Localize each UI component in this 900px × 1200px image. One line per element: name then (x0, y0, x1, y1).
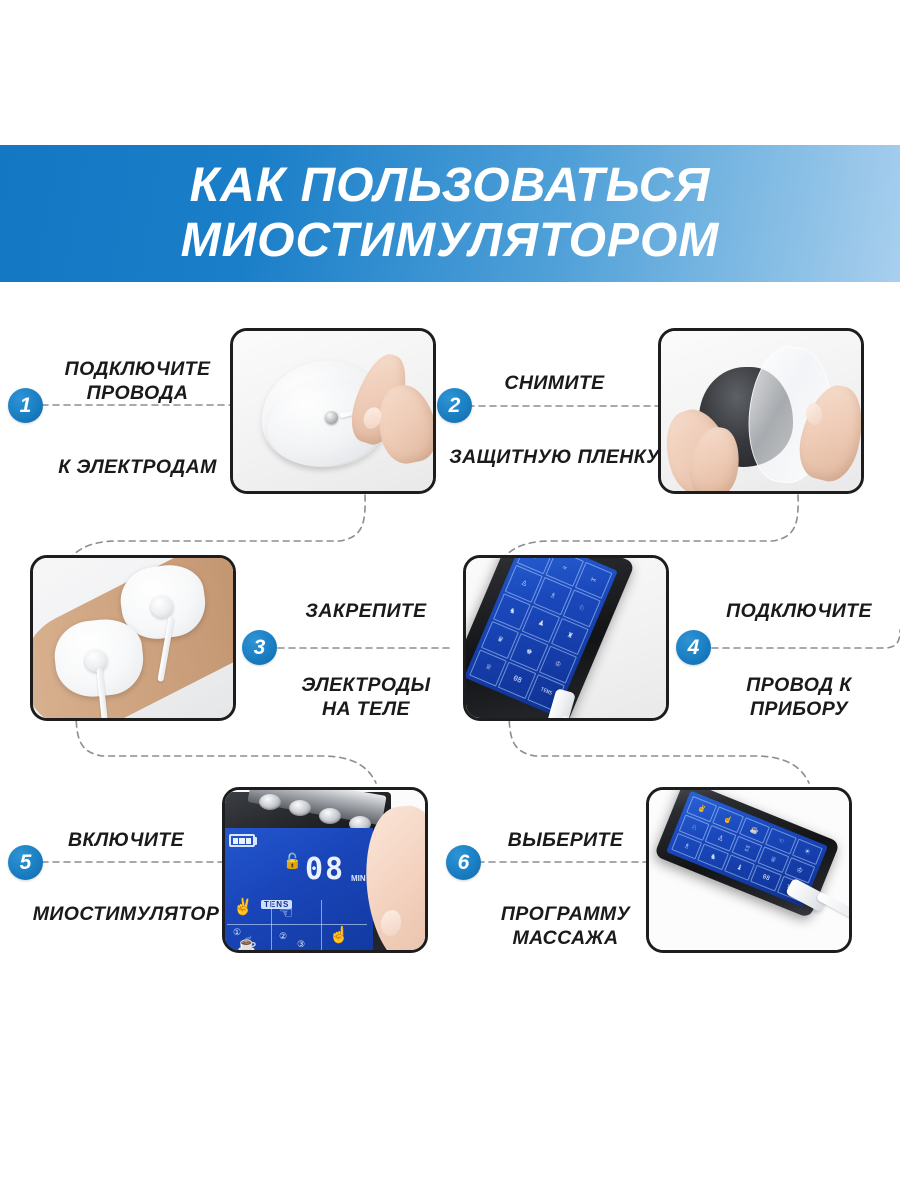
infographic-page: КАК ПОЛЬЗОВАТЬСЯ МИОСТИМУЛЯТОРОМ 1 ПОДКЛ… (0, 0, 900, 1200)
step-badge-1: 1 (8, 388, 43, 423)
program-number-1: ① (233, 928, 241, 937)
button-key-2 (289, 800, 311, 816)
photo-electrode-wire (233, 331, 433, 491)
step-badge-6: 6 (446, 845, 481, 880)
step-photo-card-4: ✋ ≈ ✂ ♙ ♗ ♘ ♞ ♟ ♜ ♛ ♚ ♔ ♕ 08 TEN (463, 555, 669, 721)
button-key-1 (259, 794, 281, 810)
photo-device-power-on: 🔓 08 MIN TENS ✌ ☜ ☝ ☕ ① ② ③ ④ (225, 790, 425, 950)
lock-icon: 🔓 (283, 854, 302, 869)
program-number-2: ② (279, 932, 287, 941)
step-photo-card-2 (658, 328, 864, 494)
lcd-divider-v1 (271, 900, 272, 953)
step-text-6: ВЫБЕРИТЕ ПРОГРАММУ МАССАЖА (483, 829, 648, 950)
step-3-lower: ЭЛЕКТРОДЫ НА ТЕЛЕ (301, 674, 430, 722)
lcd-divider-h (227, 924, 367, 925)
step-badge-4: 4 (676, 630, 711, 665)
program-icon-3: ☝ (329, 928, 349, 944)
title-line-2: МИОСТИМУЛЯТОРОМ (181, 214, 720, 269)
step-5-lower: МИОСТИМУЛЯТОР (33, 903, 220, 927)
step-2-lower: ЗАЩИТНУЮ ПЛЕНКУ (449, 446, 660, 470)
step-photo-card-6: ✌ ☝ ☕ ☜ ☀ ♘ ♙ ♖ ♕ ♔ ♗ ♞ ♝ 08 TEN (646, 787, 852, 953)
program-icon-4: ☕ (237, 938, 257, 953)
electrode-snap-button (325, 411, 338, 424)
step-text-5: ВКЛЮЧИТЕ МИОСТИМУЛЯТОР (30, 829, 222, 927)
timer-digits: 08 (305, 852, 345, 887)
lcd-divider-v2 (321, 900, 322, 953)
program-icon-2: ☜ (279, 906, 293, 922)
step-text-1: ПОДКЛЮЧИТЕ ПРОВОДА К ЭЛЕКТРОДАМ (50, 358, 225, 479)
step-2-upper: СНИМИТЕ (504, 372, 604, 396)
step-5-upper: ВКЛЮЧИТЕ (68, 829, 184, 853)
program-number-3: ③ (297, 940, 305, 949)
step-4-upper: ПОДКЛЮЧИТЕ (726, 600, 872, 624)
step-6-upper: ВЫБЕРИТЕ (508, 829, 624, 853)
program-number-4: ④ (327, 950, 335, 953)
step-text-4: ПОДКЛЮЧИТЕ ПРОВОД К ПРИБОРУ (714, 600, 884, 721)
title-banner: КАК ПОЛЬЗОВАТЬСЯ МИОСТИМУЛЯТОРОМ (0, 145, 900, 282)
step-photo-card-1 (230, 328, 436, 494)
battery-bar (233, 838, 238, 844)
step-text-3: ЗАКРЕПИТЕ ЭЛЕКТРОДЫ НА ТЕЛЕ (281, 600, 451, 721)
timer-unit-label: MIN (351, 874, 366, 883)
photo-peel-film (661, 331, 861, 491)
button-key-3 (319, 808, 341, 824)
battery-icon (229, 834, 255, 847)
step-6-lower: ПРОГРАММУ МАССАЖА (501, 903, 630, 951)
battery-bar (246, 838, 251, 844)
photo-device-cable: ✋ ≈ ✂ ♙ ♗ ♘ ♞ ♟ ♜ ♛ ♚ ♔ ♕ 08 TEN (466, 558, 666, 718)
step-1-lower: К ЭЛЕКТРОДАМ (58, 456, 217, 480)
step-3-upper: ЗАКРЕПИТЕ (305, 600, 426, 624)
title-line-1: КАК ПОЛЬЗОВАТЬСЯ (190, 159, 711, 214)
step-1-upper: ПОДКЛЮЧИТЕ ПРОВОДА (65, 358, 211, 406)
device-lcd-screen: 🔓 08 MIN TENS ✌ ☜ ☝ ☕ ① ② ③ ④ (222, 828, 373, 953)
program-icon-1: ✌ (233, 900, 253, 916)
photo-pads-on-body (33, 558, 233, 718)
step-4-lower: ПРОВОД К ПРИБОРУ (746, 674, 851, 722)
step-text-2: СНИМИТЕ ЗАЩИТНУЮ ПЛЕНКУ (452, 372, 657, 470)
step-photo-card-3 (30, 555, 236, 721)
pad-connector-upper (151, 596, 173, 618)
battery-bar (239, 838, 244, 844)
photo-select-program: ✌ ☝ ☕ ☜ ☀ ♘ ♙ ♖ ♕ ♔ ♗ ♞ ♝ 08 TEN (649, 790, 849, 950)
step-photo-card-5: 🔓 08 MIN TENS ✌ ☜ ☝ ☕ ① ② ③ ④ (222, 787, 428, 953)
step-badge-3: 3 (242, 630, 277, 665)
